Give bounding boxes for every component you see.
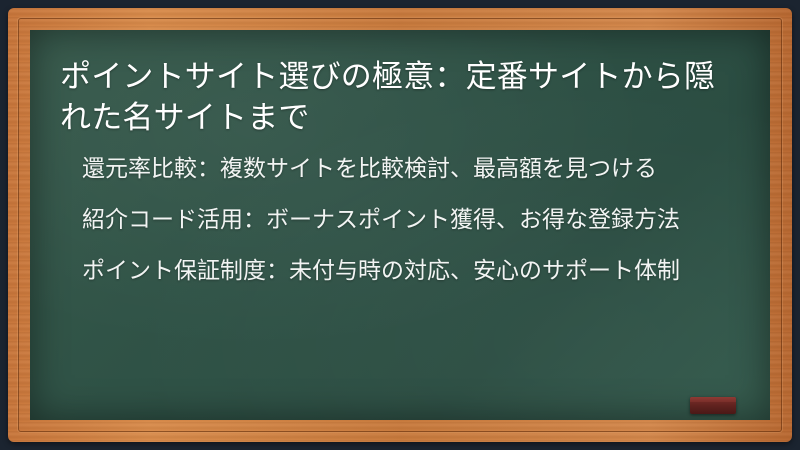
page-title: ポイントサイト選びの極意：定番サイトから隠れた名サイトまで <box>60 56 740 138</box>
bullet-list: 還元率比較：複数サイトを比較検討、最高額を見つける 紹介コード活用：ボーナスポイ… <box>60 152 740 286</box>
chalkboard-surface: ポイントサイト選びの極意：定番サイトから隠れた名サイトまで 還元率比較：複数サイ… <box>30 30 770 420</box>
slide-canvas: ポイントサイト選びの極意：定番サイトから隠れた名サイトまで 還元率比較：複数サイ… <box>0 0 800 450</box>
list-item: 紹介コード活用：ボーナスポイント獲得、お得な登録方法 <box>82 203 740 236</box>
list-item: 還元率比較：複数サイトを比較検討、最高額を見つける <box>82 152 740 185</box>
list-item: ポイント保証制度：未付与時の対応、安心のサポート体制 <box>82 254 740 287</box>
chalkboard-wooden-frame: ポイントサイト選びの極意：定番サイトから隠れた名サイトまで 還元率比較：複数サイ… <box>8 8 792 442</box>
chalk-eraser-icon <box>690 397 736 414</box>
